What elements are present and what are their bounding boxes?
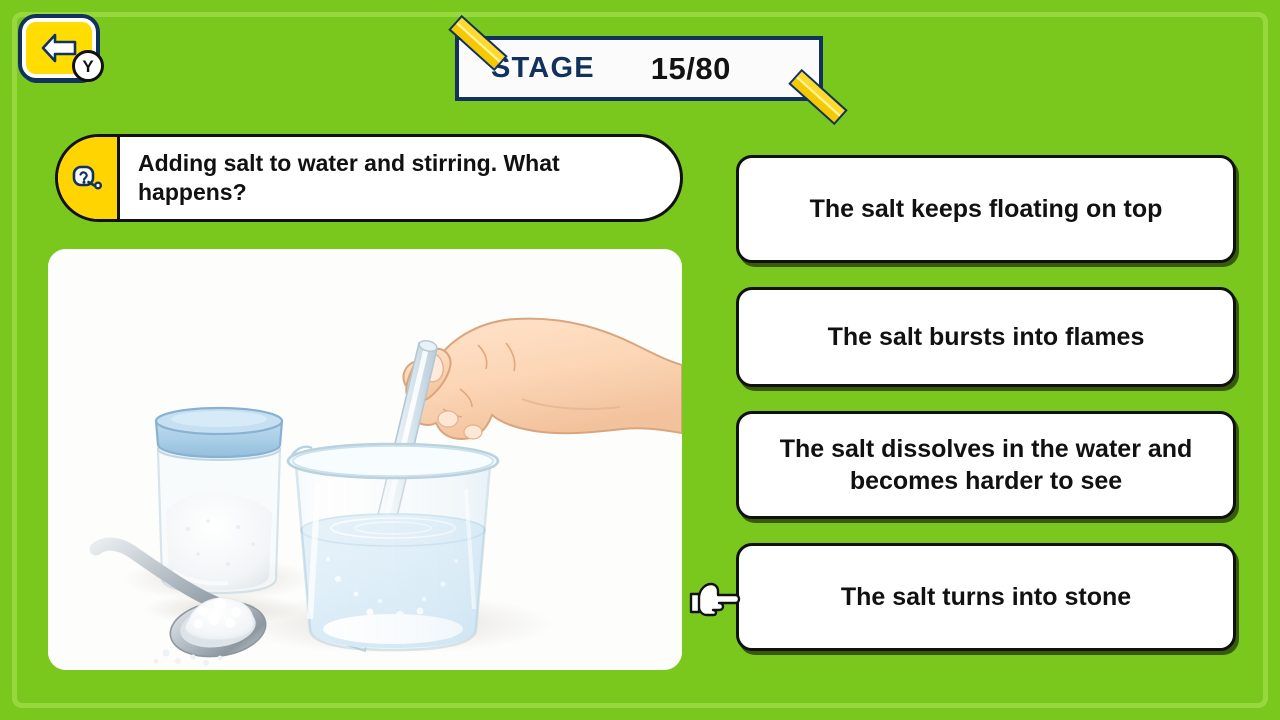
- y-button-badge[interactable]: Y: [72, 50, 104, 82]
- answer-option-2[interactable]: The salt dissolves in the water and beco…: [736, 411, 1236, 519]
- question-banner: Adding salt to water and stirring. What …: [55, 134, 683, 222]
- pointing-hand-cursor-icon: [689, 576, 741, 622]
- stage-banner: STAGE 15/80: [455, 36, 823, 101]
- question-mark-icon: [71, 163, 105, 193]
- stage-counter: 15/80: [651, 51, 731, 87]
- answer-options-list: The salt keeps floating on top The salt …: [736, 155, 1236, 675]
- question-text: Adding salt to water and stirring. What …: [120, 149, 680, 208]
- answer-option-1[interactable]: The salt bursts into flames: [736, 287, 1236, 387]
- answer-option-3[interactable]: The salt turns into stone: [736, 543, 1236, 651]
- answer-option-0[interactable]: The salt keeps floating on top: [736, 155, 1236, 263]
- beaker: [288, 444, 498, 650]
- question-marker-cap: [58, 137, 120, 219]
- illustration-panel: [48, 249, 682, 670]
- salt-dissolving-illustration: [48, 249, 682, 670]
- salt-jar: [156, 408, 282, 593]
